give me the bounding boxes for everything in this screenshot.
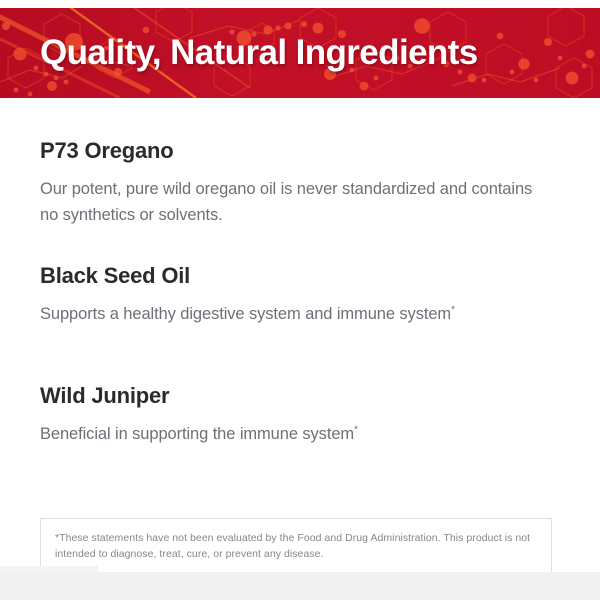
ingredient-section-black-seed-oil: Black Seed Oil Supports a healthy digest… bbox=[0, 263, 600, 328]
ingredient-description-text: Our potent, pure wild oregano oil is nev… bbox=[40, 180, 532, 224]
ingredient-description: Our potent, pure wild oregano oil is nev… bbox=[40, 177, 540, 228]
ingredient-description-text: Beneficial in supporting the immune syst… bbox=[40, 425, 354, 443]
ingredients-panel: Quality, Natural Ingredients P73 Oregano… bbox=[0, 0, 600, 600]
ingredient-title: Black Seed Oil bbox=[40, 263, 560, 289]
fda-disclaimer-text: *These statements have not been evaluate… bbox=[55, 530, 537, 563]
ingredient-description-text: Supports a healthy digestive system and … bbox=[40, 305, 451, 323]
ingredient-description: Beneficial in supporting the immune syst… bbox=[40, 422, 540, 448]
ingredient-description: Supports a healthy digestive system and … bbox=[40, 302, 540, 328]
ingredient-section-wild-juniper: Wild Juniper Beneficial in supporting th… bbox=[0, 383, 600, 448]
footnote-marker: * bbox=[354, 425, 358, 436]
ingredient-title: P73 Oregano bbox=[40, 138, 560, 164]
header-banner: Quality, Natural Ingredients bbox=[0, 8, 600, 98]
banner-title: Quality, Natural Ingredients bbox=[40, 33, 478, 73]
footnote-marker: * bbox=[451, 305, 455, 316]
ingredient-section-p73-oregano: P73 Oregano Our potent, pure wild oregan… bbox=[0, 138, 600, 229]
footer-shade bbox=[0, 572, 600, 600]
ingredient-title: Wild Juniper bbox=[40, 383, 560, 409]
fda-disclaimer-box: *These statements have not been evaluate… bbox=[40, 518, 552, 576]
